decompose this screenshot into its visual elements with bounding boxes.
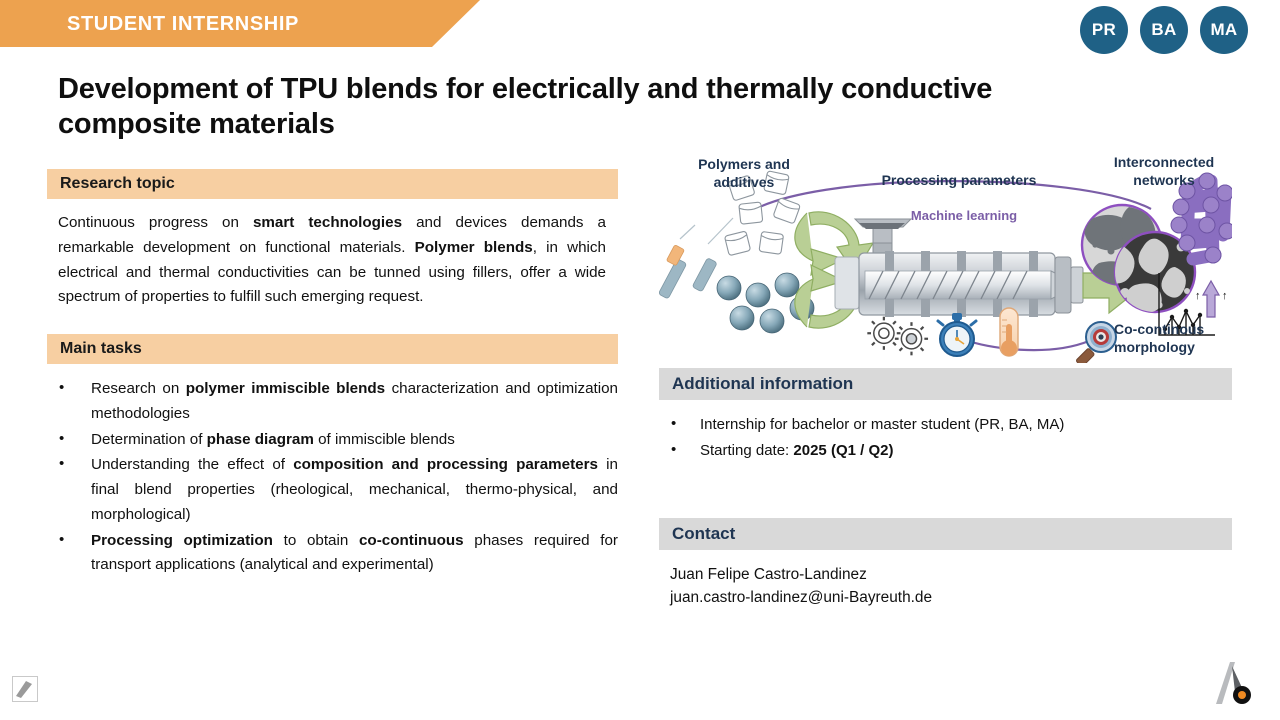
graphic-label-polymers: Polymers and additives xyxy=(679,156,809,191)
page-title: Development of TPU blends for electrical… xyxy=(58,72,1118,142)
graphic-label-interconnected: Interconnected networks xyxy=(1089,154,1239,189)
additional-information-heading: Additional information xyxy=(659,368,1232,400)
contact-email[interactable]: juan.castro-landinez@uni-Bayreuth.de xyxy=(670,586,1232,610)
left-column: Research topic Continuous progress on sm… xyxy=(47,169,618,579)
list-item: Determination of phase diagram of immisc… xyxy=(47,428,618,453)
edit-slide-icon[interactable] xyxy=(12,676,38,702)
university-logo xyxy=(1194,658,1258,706)
main-tasks-heading: Main tasks xyxy=(47,334,618,364)
header-banner-label: STUDENT INTERNSHIP xyxy=(67,13,299,36)
main-tasks-list: Research on polymer immiscible blends ch… xyxy=(47,377,618,578)
svg-text:↑: ↑ xyxy=(1195,290,1201,302)
list-item: Internship for bachelor or master studen… xyxy=(659,413,1232,436)
graphic-label-processing: Processing parameters xyxy=(859,172,1059,190)
list-item: Processing optimization to obtain co-con… xyxy=(47,529,618,579)
contact-details: Juan Felipe Castro-Landinez juan.castro-… xyxy=(670,563,1232,611)
research-topic-heading: Research topic xyxy=(47,169,618,199)
degree-badges: PR BA MA xyxy=(1080,6,1248,54)
graphic-label-machine-learning: Machine learning xyxy=(884,208,1044,224)
list-item: Understanding the effect of composition … xyxy=(47,453,618,527)
badge-ba[interactable]: BA xyxy=(1140,6,1188,54)
right-column: Polymers and additives Processing parame… xyxy=(659,145,1232,610)
badge-ma[interactable]: MA xyxy=(1200,6,1248,54)
badge-pr[interactable]: PR xyxy=(1080,6,1128,54)
process-diagram: Polymers and additives Processing parame… xyxy=(659,145,1232,363)
contact-heading: Contact xyxy=(659,518,1232,550)
additional-information-list: Internship for bachelor or master studen… xyxy=(659,413,1232,463)
graphic-label-co-continuous: Co-continous morphology xyxy=(1114,321,1249,356)
contact-name: Juan Felipe Castro-Landinez xyxy=(670,563,1232,587)
research-topic-paragraph: Continuous progress on smart technologie… xyxy=(58,211,606,310)
svg-text:↑: ↑ xyxy=(1222,290,1228,302)
list-item: Starting date: 2025 (Q1 / Q2) xyxy=(659,439,1232,462)
list-item: Research on polymer immiscible blends ch… xyxy=(47,377,618,427)
